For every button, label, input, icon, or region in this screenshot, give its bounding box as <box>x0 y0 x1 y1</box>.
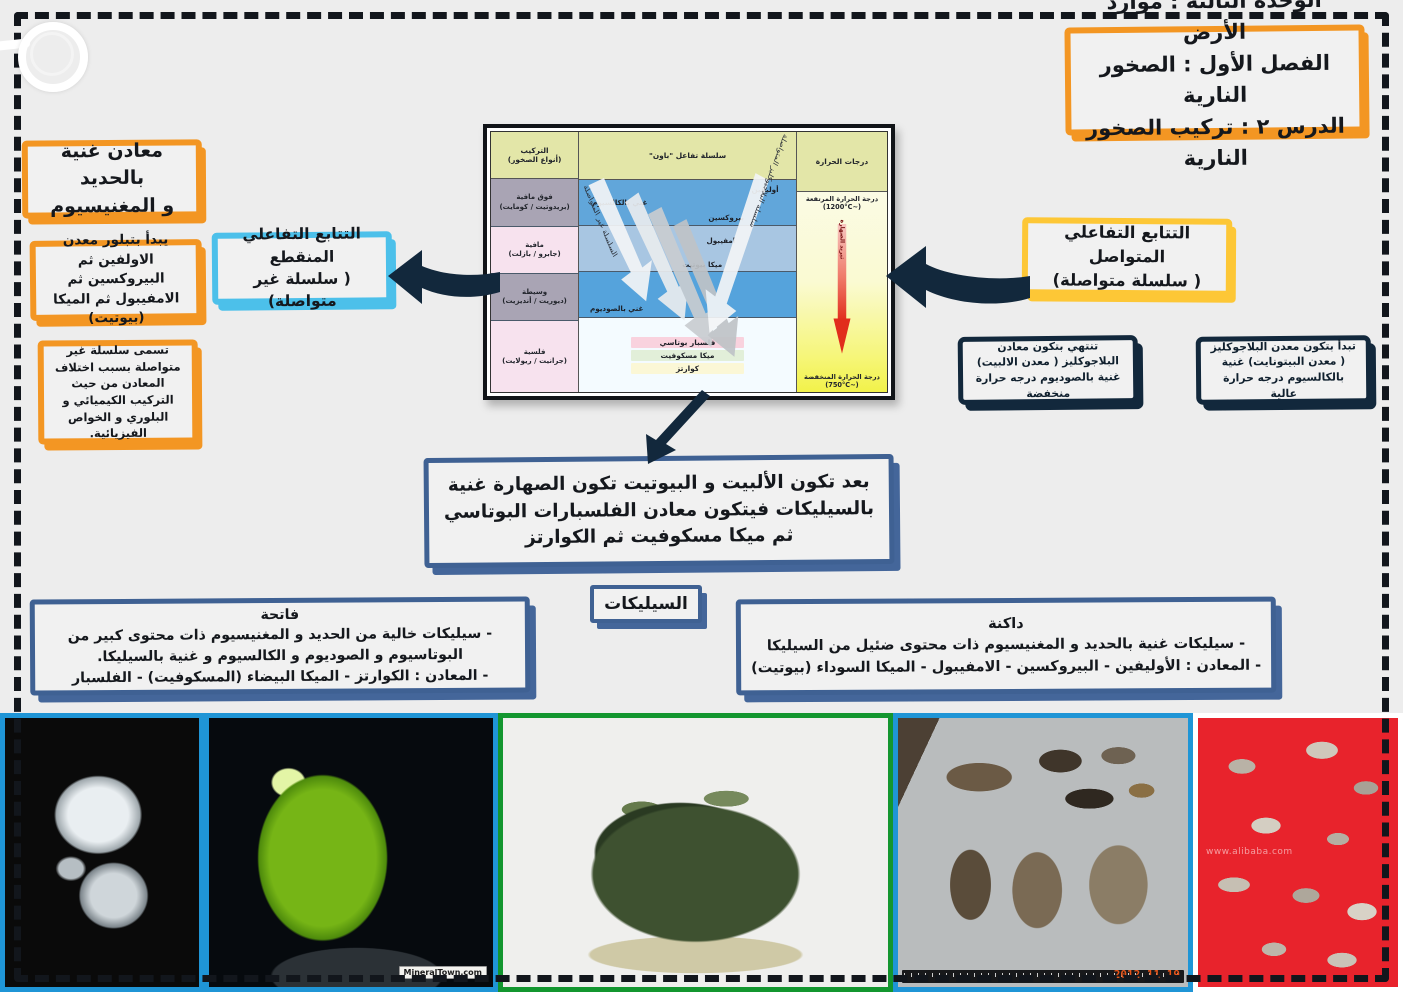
bowen-band-mafic: امفيبول ميكا بيوتيت <box>579 226 796 272</box>
photo-biotite-sheets: 19 11 2012 <box>893 713 1193 992</box>
label-silicates-text: السيليكات <box>596 586 696 623</box>
bowen-composition-column: التركيب (أنواع الصخور) فوق مافية (بريدوت… <box>491 132 578 392</box>
bowen-temperature-column: درجات الحرارة درجة الحرارة المرتفعة (~12… <box>796 132 887 392</box>
mineral-calcium-rich: غني بالكالسيوم <box>592 198 647 207</box>
bowen-cooling-label: تبريد الصهارة <box>838 220 845 260</box>
arrow-right-to-continuous <box>878 238 1030 320</box>
note-iron-magnesium-rich: معادن غنية بالحديد و المغنيسيوم <box>22 139 203 218</box>
mineral-amphibole: امفيبول <box>707 236 736 245</box>
bowen-reaction-series-diagram: درجات الحرارة درجة الحرارة المرتفعة (~12… <box>483 124 895 400</box>
label-continuous-series-text: التتابع التفاعلي المتواصل ( سلسلة متواصل… <box>1028 214 1227 299</box>
mineral-potassium-feldspar: فلسبار بوتاسي <box>631 337 744 348</box>
arrow-left-to-discontinuous <box>378 238 500 320</box>
bowen-header-temperature: درجات الحرارة <box>797 132 887 192</box>
note-mafic-title: داكنة <box>988 616 1024 632</box>
lesson-title-text: الوحدة الثالثة : موارد الأرض الفصل الأول… <box>1070 0 1360 182</box>
note-iron-magnesium-text: معادن غنية بالحديد و المغنيسيوم <box>28 131 197 227</box>
bowen-header-series: سلسلة تفاعل "باون" <box>579 132 796 180</box>
bowen-band-ultramafic: أوليفين بيروكسين غني بالكالسيوم <box>579 180 796 226</box>
photo-amphibole-crystals <box>498 713 893 992</box>
composition-ultramafic: فوق مافية (بريدوتيت / كومايت) <box>491 179 578 226</box>
note-felsic-line1: - سيليكات خالية من الحديد و المغنيسيوم ذ… <box>68 626 492 665</box>
poster-canvas: الوحدة الثالثة : موارد الأرض الفصل الأول… <box>0 0 1403 992</box>
label-discontinuous-series: التتابع التفاعلي المنقطع ( سلسلة غير متو… <box>212 231 393 305</box>
mineral-sodium-rich: غني بالصوديوم <box>590 304 643 313</box>
photo-olivine-crystal: MineralTown.com <box>204 713 498 992</box>
mineral-photo-strip: www.alibaba.com 19 11 2012 MineralTown.c… <box>0 713 1403 992</box>
bowen-band-intermediate: غني بالصوديوم <box>579 272 796 318</box>
note-plagioclase-end-text: تنتهي بتكون معادن البلاجوكليز ( معدن الا… <box>963 332 1134 408</box>
note-plagioclase-start: تبدأ بتكون معدن البلاجوكليز ( معدن البيت… <box>1196 335 1372 405</box>
note-plagioclase-end: تنتهي بتكون معادن البلاجوكليز ( معدن الا… <box>958 335 1139 405</box>
label-discontinuous-series-text: التتابع التفاعلي المنقطع ( سلسلة غير متو… <box>218 216 387 319</box>
note-felsic-line2: - المعادن : الكوارتز - الميكا البيضاء (ا… <box>72 667 489 686</box>
note-felsic-title: فاتحة <box>260 607 299 623</box>
bowen-series-column: سلسلة تفاعل "باون" أوليفين بيروكسين غني … <box>578 132 796 392</box>
note-mafic-line1: - سيليكات غنية بالحديد و المغنيسيوم ذات … <box>767 636 1245 655</box>
photo-watermark: www.alibaba.com <box>1206 847 1293 857</box>
label-silicates: السيليكات <box>590 585 702 623</box>
note-crystallization-order: يبدأ بتبلور معدن الاولفين ثم البيروكسين … <box>30 239 203 321</box>
photo-sitemark: MineralTown.com <box>399 966 488 979</box>
bowen-temp-low: درجة الحرارة المنخفضة (~750°C) <box>798 373 886 389</box>
photo-muscovite-flakes: www.alibaba.com <box>1193 713 1403 992</box>
circle-logo-icon <box>18 22 88 92</box>
note-why-discontinuous-text: تسمى سلسلة غير متواصلة بسبب اختلاف المعا… <box>44 335 193 448</box>
mineral-muscovite: ميكا مسكوفيت <box>631 350 744 361</box>
mineral-quartz: كوارتز <box>631 363 744 374</box>
note-crystallization-order-text: يبدأ بتبلور معدن الاولفين ثم البيروكسين … <box>35 224 196 335</box>
note-magma-evolution-summary: بعد تكون الألبيت و البيوتيت تكون الصهارة… <box>424 454 895 568</box>
bowen-header-composition: التركيب (أنواع الصخور) <box>491 132 578 179</box>
lesson-title-note: الوحدة الثالثة : موارد الأرض الفصل الأول… <box>1064 24 1365 135</box>
note-why-discontinuous: تسمى سلسلة غير متواصلة بسبب اختلاف المعا… <box>38 339 199 444</box>
photo-datestamp: 19 11 2012 <box>1114 968 1180 981</box>
composition-felsic: فلسية (جرانيت / ريولايت) <box>491 321 578 392</box>
note-plagioclase-start-text: تبدأ بتكون معدن البلاجوكليز ( معدن البيت… <box>1201 332 1367 408</box>
composition-mafic: مافية (جابرو / بازلت) <box>491 227 578 274</box>
mineral-mica: ميكا بيوتيت <box>682 260 722 269</box>
note-magma-evolution-summary-text: بعد تكون الألبيت و البيوتيت تكون الصهارة… <box>429 463 890 559</box>
photo-quartz-crystal <box>0 713 204 992</box>
bowen-temp-high: درجة الحرارة المرتفعة (~1200°C) <box>798 195 886 211</box>
bowen-band-felsic: فلسبار بوتاسي ميكا مسكوفيت كوارتز <box>579 318 796 392</box>
label-continuous-series: التتابع التفاعلي المتواصل ( سلسلة متواصل… <box>1022 217 1233 296</box>
note-felsic-class: فاتحة - سيليكات خالية من الحديد و المغني… <box>30 596 531 695</box>
note-mafic-class: داكنة - سيليكات غنية بالحديد و المغنيسيو… <box>736 597 1276 696</box>
bowen-temperature-body: درجة الحرارة المرتفعة (~1200°C) تبر <box>797 192 887 392</box>
composition-intermediate: وسيطة (ديوريت / أنديزيت) <box>491 274 578 321</box>
mineral-pyroxene: بيروكسين <box>708 213 743 222</box>
note-mafic-line2: - المعادن : الأوليفين - البيروكسين - الا… <box>751 657 1261 676</box>
mineral-olivine: أوليفين <box>751 185 778 194</box>
arrow-diagram-to-summary <box>618 388 736 470</box>
